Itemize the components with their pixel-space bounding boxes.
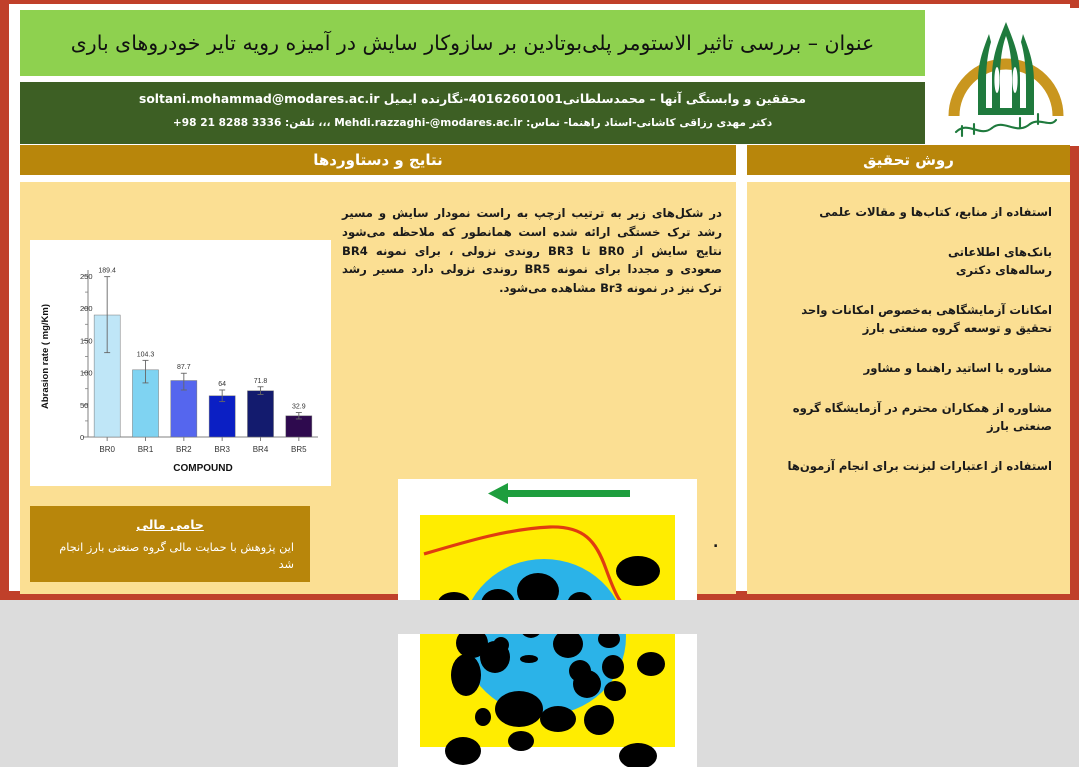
funding-box: حامی مالی این پژوهش با حمایت مالی گروه ص… xyxy=(30,506,310,582)
chart-x-axis-label: COMPOUND xyxy=(173,463,232,474)
svg-text:0: 0 xyxy=(80,433,84,442)
university-logo: دانشگاه تربیت مدرس xyxy=(934,8,1079,146)
chart-x-tick-label: BR1 xyxy=(138,445,154,454)
method-item-list: استفاده از منابع، کتاب‌ها و مقالات علمی … xyxy=(747,182,1070,476)
svg-text:150: 150 xyxy=(80,336,93,345)
svg-text:50: 50 xyxy=(80,401,88,410)
method-item: امکانات آزمایشگاهی به‌خصوص امکانات واحد … xyxy=(765,302,1052,338)
authors-line: محققین و وابستگی آنها – محمدسلطانی‌40162… xyxy=(46,90,899,108)
chart-value-label: 64 xyxy=(218,381,226,388)
chart-x-tick-label: BR4 xyxy=(253,445,269,454)
method-item: مشاوره با اساتید راهنما و مشاور xyxy=(765,360,1052,378)
abrasion-rate-chart: 050100150200250Abrasion rate ( mg/Km)189… xyxy=(30,240,331,486)
section-header-method-label: روش تحقیق xyxy=(863,151,954,169)
chart-x-tick-label: BR2 xyxy=(176,445,192,454)
chart-value-label: 32.9 xyxy=(292,404,306,411)
page-bottom-strip xyxy=(0,600,1079,634)
section-header-results-label: نتایج و دستاوردها xyxy=(313,151,443,169)
section-header-method: روش تحقیق xyxy=(747,145,1070,175)
chart-x-tick-label: BR0 xyxy=(99,445,115,454)
svg-text:200: 200 xyxy=(80,304,93,313)
svg-text:250: 250 xyxy=(80,272,93,281)
funding-body: این پژوهش با حمایت مالی گروه صنعتی بارز … xyxy=(30,540,310,574)
authors-banner: محققین و وابستگی آنها – محمدسلطانی‌40162… xyxy=(20,82,925,144)
panel-research-method: استفاده از منابع، کتاب‌ها و مقالات علمی … xyxy=(747,182,1070,594)
results-paragraph: در شکل‌های زیر به ترتیب ازچپ به راست نمو… xyxy=(342,204,722,298)
chart-bar xyxy=(247,391,273,437)
poster-title-banner: عنوان – بررسی تاثیر الاستومر پلی‌بوتادین… xyxy=(20,10,925,76)
supervisor-contact-line: دکتر مهدی رزاقی کاشانی-استاد راهنما- تما… xyxy=(46,115,899,132)
poster-root: عنوان – بررسی تاثیر الاستومر پلی‌بوتادین… xyxy=(0,0,1079,600)
chart-y-axis-label: Abrasion rate ( mg/Km) xyxy=(40,304,51,409)
stray-period-mark: . xyxy=(713,535,718,551)
chart-value-label: 71.8 xyxy=(254,378,268,385)
method-item: بانک‌های اطلاعاتی رساله‌های دکتری xyxy=(765,244,1052,280)
page-title: عنوان – بررسی تاثیر الاستومر پلی‌بوتادین… xyxy=(71,31,874,55)
funding-title: حامی مالی xyxy=(136,517,204,532)
chart-value-label: 87.7 xyxy=(177,364,191,371)
chart-value-label: 189.4 xyxy=(98,268,116,275)
panel-results: در شکل‌های زیر به ترتیب ازچپ به راست نمو… xyxy=(20,182,736,594)
chart-x-tick-label: BR3 xyxy=(214,445,230,454)
poster-header: عنوان – بررسی تاثیر الاستومر پلی‌بوتادین… xyxy=(9,4,1070,144)
method-item: استفاده از منابع، کتاب‌ها و مقالات علمی xyxy=(765,204,1052,222)
chart-x-tick-label: BR5 xyxy=(291,445,307,454)
section-header-results: نتایج و دستاوردها xyxy=(20,145,736,175)
chart-value-label: 104.3 xyxy=(137,351,155,358)
svg-text:100: 100 xyxy=(80,369,93,378)
university-logo-icon: دانشگاه تربیت مدرس xyxy=(934,8,1079,146)
abrasion-rate-chart-svg: 050100150200250Abrasion rate ( mg/Km)189… xyxy=(30,240,331,486)
method-item: استفاده از اعتبارات لبزنت برای انجام آزم… xyxy=(765,458,1052,476)
method-item: مشاوره از همکاران محترم در آزمایشگاه گرو… xyxy=(765,400,1052,436)
